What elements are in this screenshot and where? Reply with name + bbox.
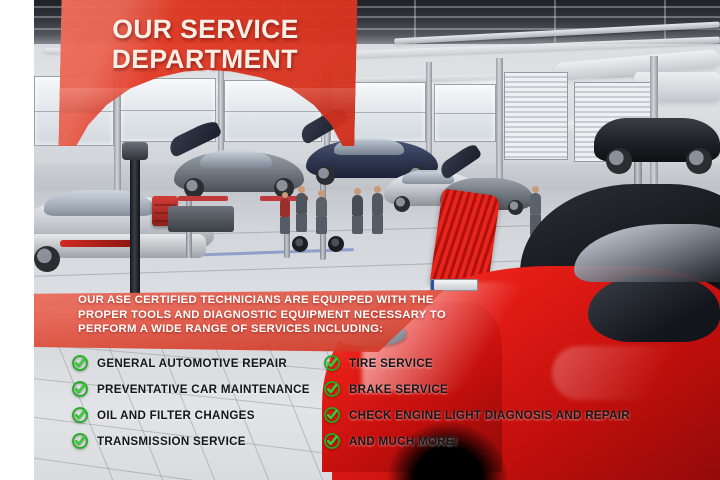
mechanic-legs	[280, 217, 290, 234]
list-item-label: OIL AND FILTER CHANGES	[97, 409, 255, 422]
support-pillar	[496, 58, 503, 186]
stacked-tyre	[328, 236, 344, 252]
list-item-label: TIRE SERVICE	[349, 357, 433, 370]
mechanic-torso	[316, 197, 327, 217]
mechanic-head	[374, 186, 381, 193]
page-title: OUR SERVICE DEPARTMENT	[111, 14, 342, 74]
ceiling-truss	[554, 0, 556, 44]
service-checklist: GENERAL AUTOMOTIVE REPAIR PREVENTATIVE C…	[72, 350, 692, 456]
service-department-poster: OUR SERVICE DEPARTMENT OUR ASE CERTIFIED…	[0, 0, 720, 480]
page-title-line-2: DEPARTMENT	[111, 44, 342, 74]
green-check-icon	[324, 433, 340, 449]
stacked-tyre	[292, 236, 308, 252]
checklist-column-left: GENERAL AUTOMOTIVE REPAIR PREVENTATIVE C…	[72, 350, 322, 454]
mechanic	[280, 192, 290, 234]
green-check-icon	[324, 381, 340, 397]
hose-reel	[122, 142, 148, 160]
mechanic-torso	[296, 193, 307, 214]
mechanic-head	[298, 186, 305, 193]
list-item-label: PREVENTATIVE CAR MAINTENANCE	[97, 383, 310, 396]
mechanic	[296, 186, 307, 232]
list-item-label: BRAKE SERVICE	[349, 383, 448, 396]
green-check-icon	[324, 355, 340, 371]
list-item: TIRE SERVICE	[324, 350, 692, 376]
workbench	[168, 206, 234, 232]
mechanic-legs	[296, 214, 307, 232]
list-item-label: AND MUCH MORE!	[349, 435, 458, 448]
green-check-icon	[324, 407, 340, 423]
exhaust-extraction-hose	[130, 152, 140, 300]
list-item: PREVENTATIVE CAR MAINTENANCE	[72, 376, 322, 402]
info-line-3: PERFORM A WIDE RANGE OF SERVICES INCLUDI…	[78, 322, 438, 337]
list-item-label: GENERAL AUTOMOTIVE REPAIR	[97, 357, 287, 370]
mechanic-head	[532, 186, 539, 193]
list-item: BRAKE SERVICE	[324, 376, 692, 402]
mechanic-head	[354, 188, 361, 195]
list-item: CHECK ENGINE LIGHT DIAGNOSIS AND REPAIR	[324, 402, 692, 428]
vehicle-taillight	[60, 240, 134, 247]
list-item-label: CHECK ENGINE LIGHT DIAGNOSIS AND REPAIR	[349, 409, 630, 422]
green-check-icon	[72, 433, 88, 449]
page-title-line-1: OUR SERVICE	[112, 14, 343, 44]
vehicle-wheel	[34, 246, 60, 272]
lift-arm	[178, 196, 228, 201]
info-line-2: PROPER TOOLS AND DIAGNOSTIC EQUIPMENT NE…	[78, 308, 438, 323]
list-item: AND MUCH MORE!	[324, 428, 692, 454]
checklist-column-right: TIRE SERVICE BRAKE SERVICE CHECK ENGINE …	[324, 350, 692, 454]
list-item: OIL AND FILTER CHANGES	[72, 402, 322, 428]
mechanic-head	[318, 190, 325, 197]
info-line-1: OUR ASE CERTIFIED TECHNICIANS ARE EQUIPP…	[78, 293, 438, 308]
vehicle-windshield	[200, 150, 272, 168]
red-car-side-window	[588, 276, 720, 342]
green-check-icon	[72, 381, 88, 397]
mechanic	[316, 190, 327, 234]
green-check-icon	[72, 407, 88, 423]
list-item: TRANSMISSION SERVICE	[72, 428, 322, 454]
vehicle-wheel	[606, 148, 632, 174]
green-check-icon	[72, 355, 88, 371]
info-banner-text: OUR ASE CERTIFIED TECHNICIANS ARE EQUIPP…	[78, 293, 438, 337]
vehicle-wheel	[316, 166, 335, 185]
vehicle-wheel	[184, 178, 204, 198]
garage-window	[434, 84, 496, 142]
ceiling-truss	[664, 0, 666, 44]
vehicle-wheel	[686, 148, 712, 174]
roller-door	[504, 72, 568, 160]
mechanic-legs	[316, 217, 327, 234]
list-item-label: TRANSMISSION SERVICE	[97, 435, 246, 448]
list-item: GENERAL AUTOMOTIVE REPAIR	[72, 350, 322, 376]
licence-plate	[430, 279, 478, 291]
mechanic-torso	[280, 198, 290, 217]
